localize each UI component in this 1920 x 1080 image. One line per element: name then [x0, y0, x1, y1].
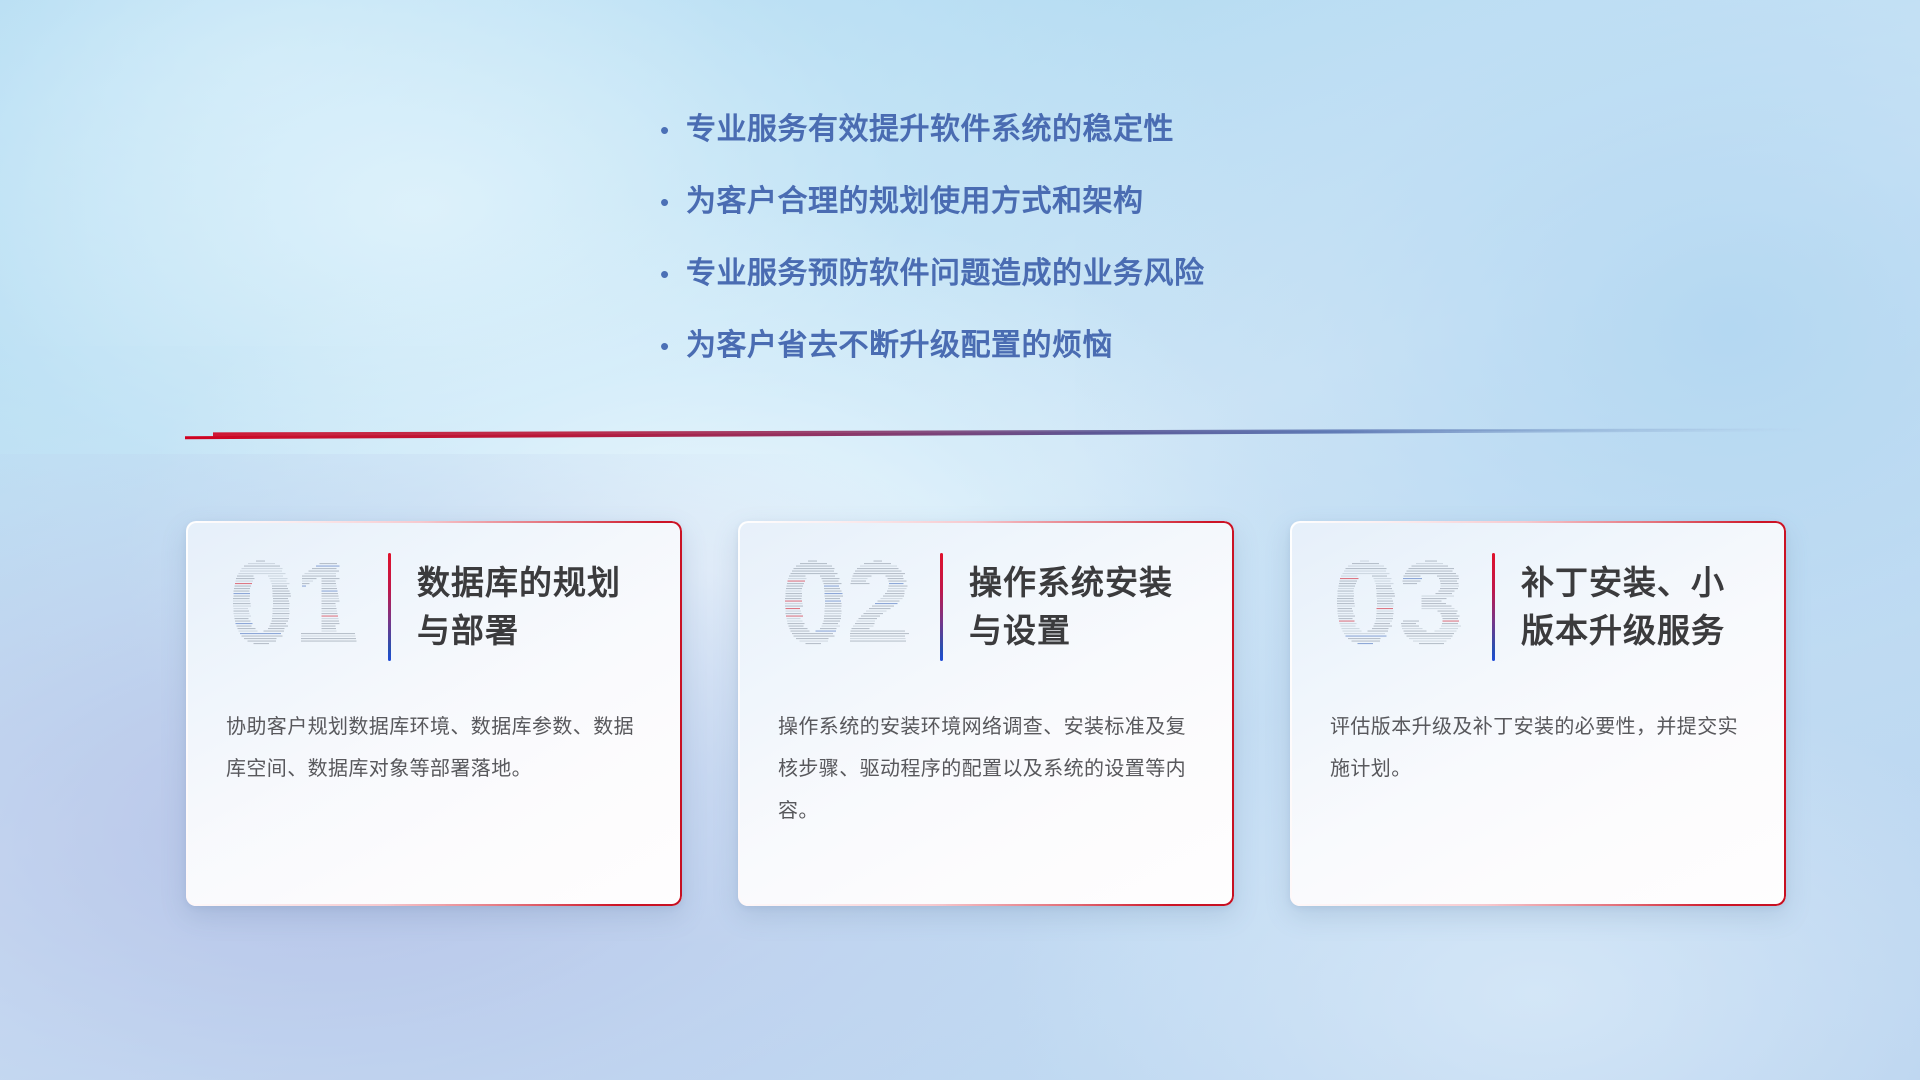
bullet-dot-icon: • — [660, 252, 686, 296]
bullet-text: 为客户合理的规划使用方式和架构 — [686, 180, 1144, 224]
title-accent-bar — [1492, 553, 1495, 661]
list-item: • 为客户合理的规划使用方式和架构 — [660, 180, 1420, 224]
card-number-graphic — [762, 547, 930, 667]
bullet-dot-icon: • — [660, 324, 686, 368]
card-header: 操作系统安装 与设置 — [738, 521, 1234, 693]
list-item: • 专业服务有效提升软件系统的稳定性 — [660, 108, 1420, 152]
card-header: 补丁安装、小 版本升级服务 — [1290, 521, 1786, 693]
service-card-row: 数据库的规划 与部署 协助客户规划数据库环境、数据库参数、数据库空间、数据库对象… — [186, 521, 1786, 906]
card-title: 操作系统安装 与设置 — [969, 559, 1173, 655]
bullet-text: 为客户省去不断升级配置的烦恼 — [686, 324, 1113, 368]
title-accent-bar — [940, 553, 943, 661]
card-body-text: 操作系统的安装环境网络调查、安装标准及复核步骤、驱动程序的配置以及系统的设置等内… — [778, 706, 1200, 832]
card-header: 数据库的规划 与部署 — [186, 521, 682, 693]
bullet-dot-icon: • — [660, 180, 686, 224]
list-item: • 专业服务预防软件问题造成的业务风险 — [660, 252, 1420, 296]
bullet-text: 专业服务有效提升软件系统的稳定性 — [686, 108, 1174, 152]
card-body-text: 评估版本升级及补丁安装的必要性，并提交实施计划。 — [1330, 706, 1752, 790]
benefits-bullet-list: • 专业服务有效提升软件系统的稳定性 • 为客户合理的规划使用方式和架构 • 专… — [660, 108, 1420, 396]
list-item: • 为客户省去不断升级配置的烦恼 — [660, 324, 1420, 368]
bullet-dot-icon: • — [660, 108, 686, 152]
service-card[interactable]: 操作系统安装 与设置 操作系统的安装环境网络调查、安装标准及复核步骤、驱动程序的… — [738, 521, 1234, 906]
bullet-text: 专业服务预防软件问题造成的业务风险 — [686, 252, 1205, 296]
service-card[interactable]: 数据库的规划 与部署 协助客户规划数据库环境、数据库参数、数据库空间、数据库对象… — [186, 521, 682, 906]
card-number-graphic — [210, 547, 378, 667]
title-accent-bar — [388, 553, 391, 661]
card-number-graphic — [1314, 547, 1482, 667]
card-body-text: 协助客户规划数据库环境、数据库参数、数据库空间、数据库对象等部署落地。 — [226, 706, 648, 790]
card-title: 数据库的规划 与部署 — [417, 559, 621, 655]
card-title: 补丁安装、小 版本升级服务 — [1521, 559, 1725, 655]
service-card[interactable]: 补丁安装、小 版本升级服务 评估版本升级及补丁安装的必要性，并提交实施计划。 — [1290, 521, 1786, 906]
section-divider — [185, 424, 1805, 440]
